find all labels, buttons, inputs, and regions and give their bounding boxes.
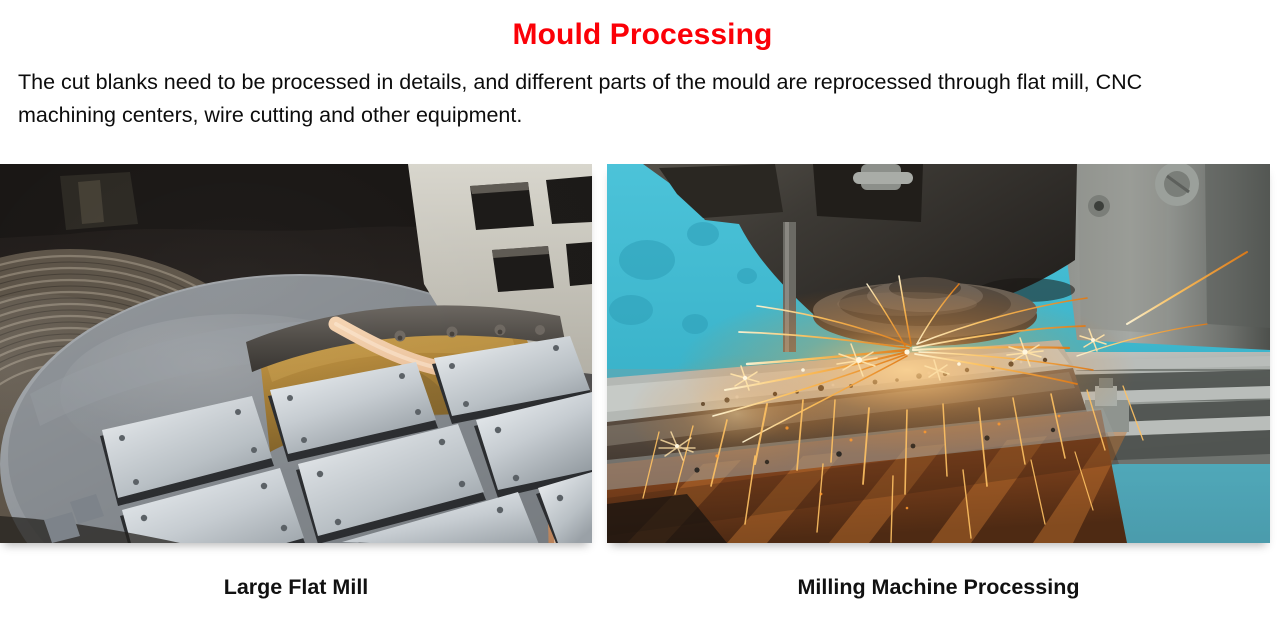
intro-paragraph: The cut blanks need to be processed in d… (18, 66, 1218, 132)
photo-large-flat-mill (0, 164, 592, 543)
figure-caption-large-flat-mill: Large Flat Mill (0, 576, 592, 600)
figure-caption-milling-machine-processing: Milling Machine Processing (607, 576, 1270, 600)
large-flat-mill-illustration (0, 164, 592, 543)
page-title: Mould Processing (0, 0, 1285, 50)
figure-milling-machine-processing: Milling Machine Processing (607, 164, 1270, 600)
milling-machine-illustration (607, 164, 1270, 543)
photo-milling-machine-processing (607, 164, 1270, 543)
figure-row: Large Flat Mill (0, 164, 1285, 619)
figure-large-flat-mill: Large Flat Mill (0, 164, 592, 600)
mould-processing-section: Mould Processing The cut blanks need to … (0, 0, 1285, 619)
